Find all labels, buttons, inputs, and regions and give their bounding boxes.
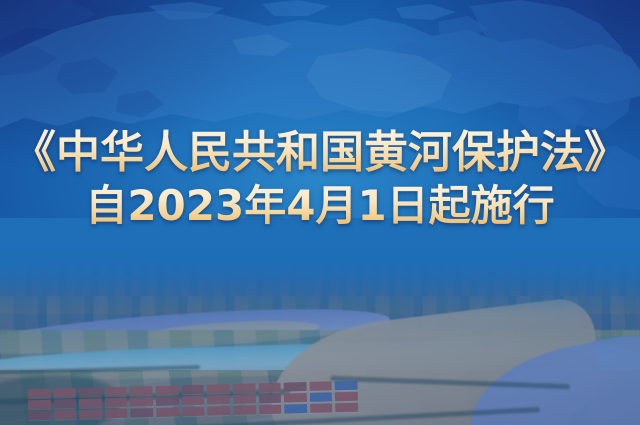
photo-content [0,218,640,425]
title-line-2: 自2023年4月1日起施行 [0,182,640,230]
poster-image: 《中华人民共和国黄河保护法》 自2023年4月1日起施行 [0,0,640,425]
yellow-river-aerial-photo [0,218,640,425]
title-line-1: 《中华人民共和国黄河保护法》 [0,128,640,178]
photo-top-feather [0,218,640,310]
poster-title: 《中华人民共和国黄河保护法》 自2023年4月1日起施行 [0,128,640,230]
